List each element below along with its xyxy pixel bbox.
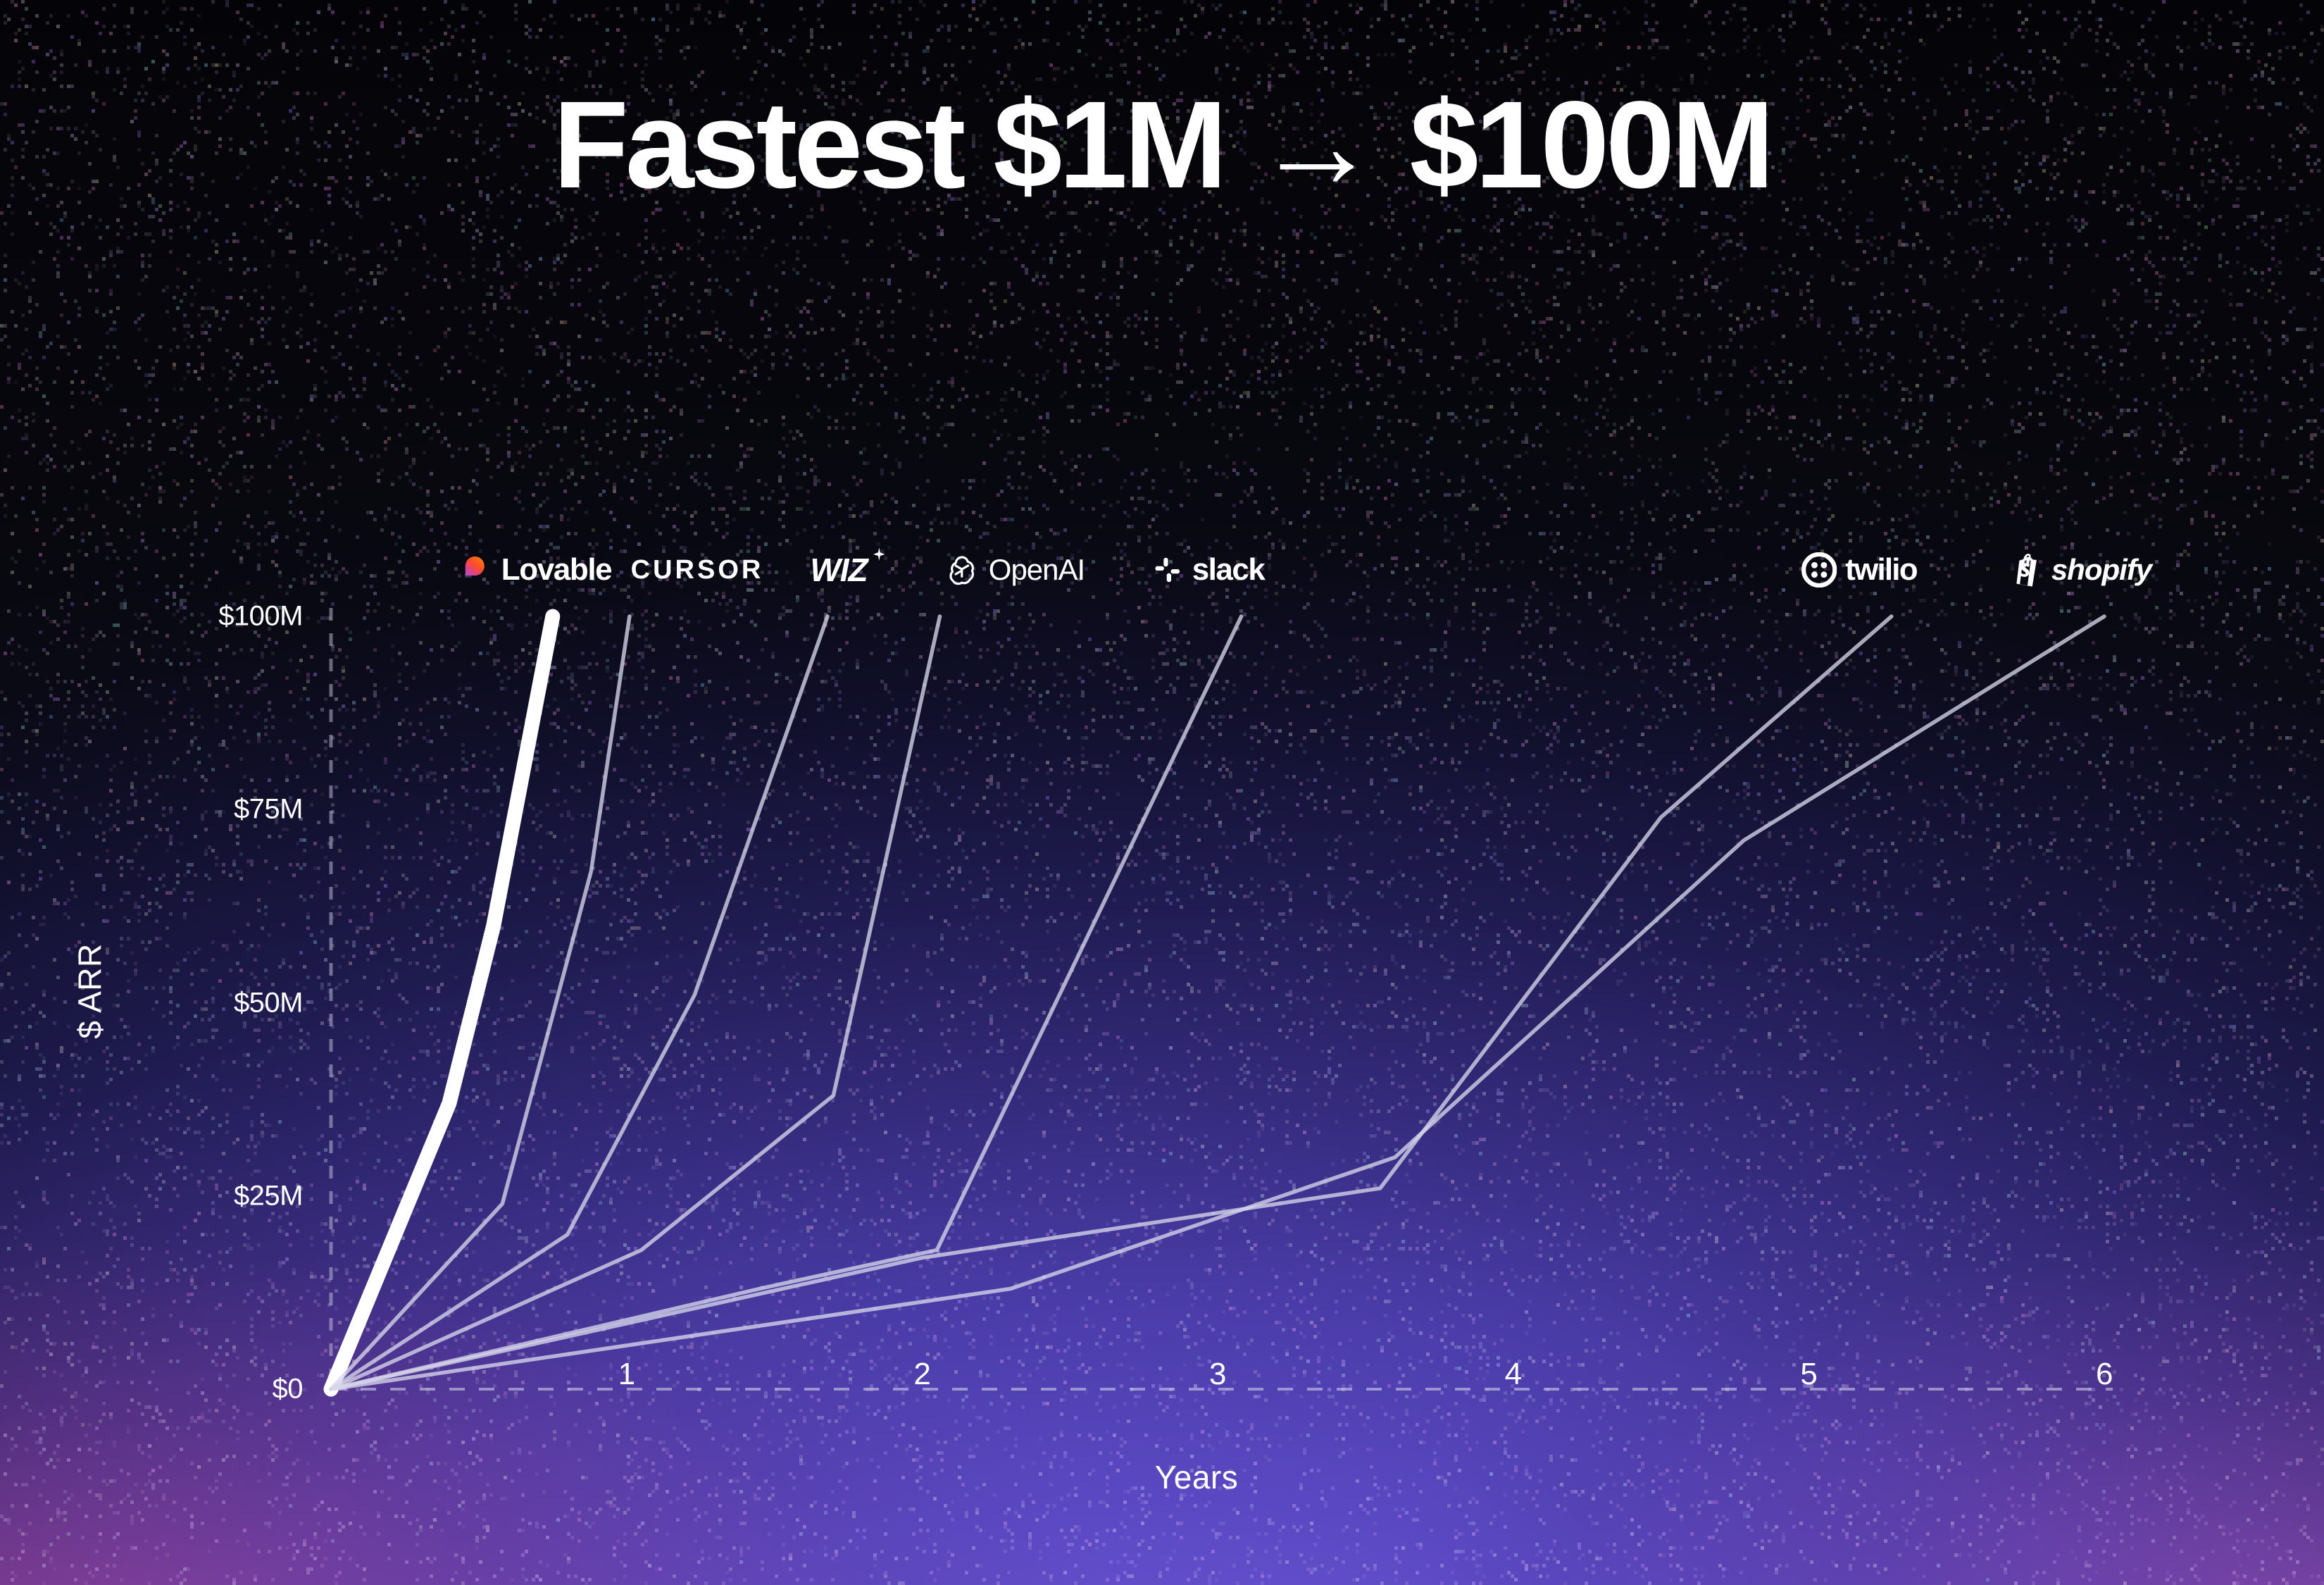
x-axis-tick-label: 1 (618, 1357, 635, 1392)
x-axis-tick-label: 2 (913, 1357, 930, 1392)
y-axis-tick-label: $100M (120, 601, 303, 633)
x-axis-tick-label: 3 (1209, 1357, 1226, 1392)
chart-gridlines (331, 608, 2113, 1389)
x-axis-tick-label: 6 (2096, 1357, 2113, 1392)
x-axis-title: Years (1155, 1458, 1238, 1496)
x-axis-tick-label: 5 (1800, 1357, 1817, 1392)
y-axis-tick-label: $75M (120, 794, 303, 826)
chart-canvas (0, 0, 2324, 1585)
y-axis-tick-label: $0 (120, 1374, 303, 1405)
y-axis-tick-label: $50M (120, 987, 303, 1019)
y-axis-tick-label: $25M (120, 1180, 303, 1212)
x-axis-tick-label: 4 (1505, 1357, 1522, 1392)
series-line-lovable (331, 616, 553, 1389)
y-axis-title: $ ARR (71, 943, 109, 1038)
